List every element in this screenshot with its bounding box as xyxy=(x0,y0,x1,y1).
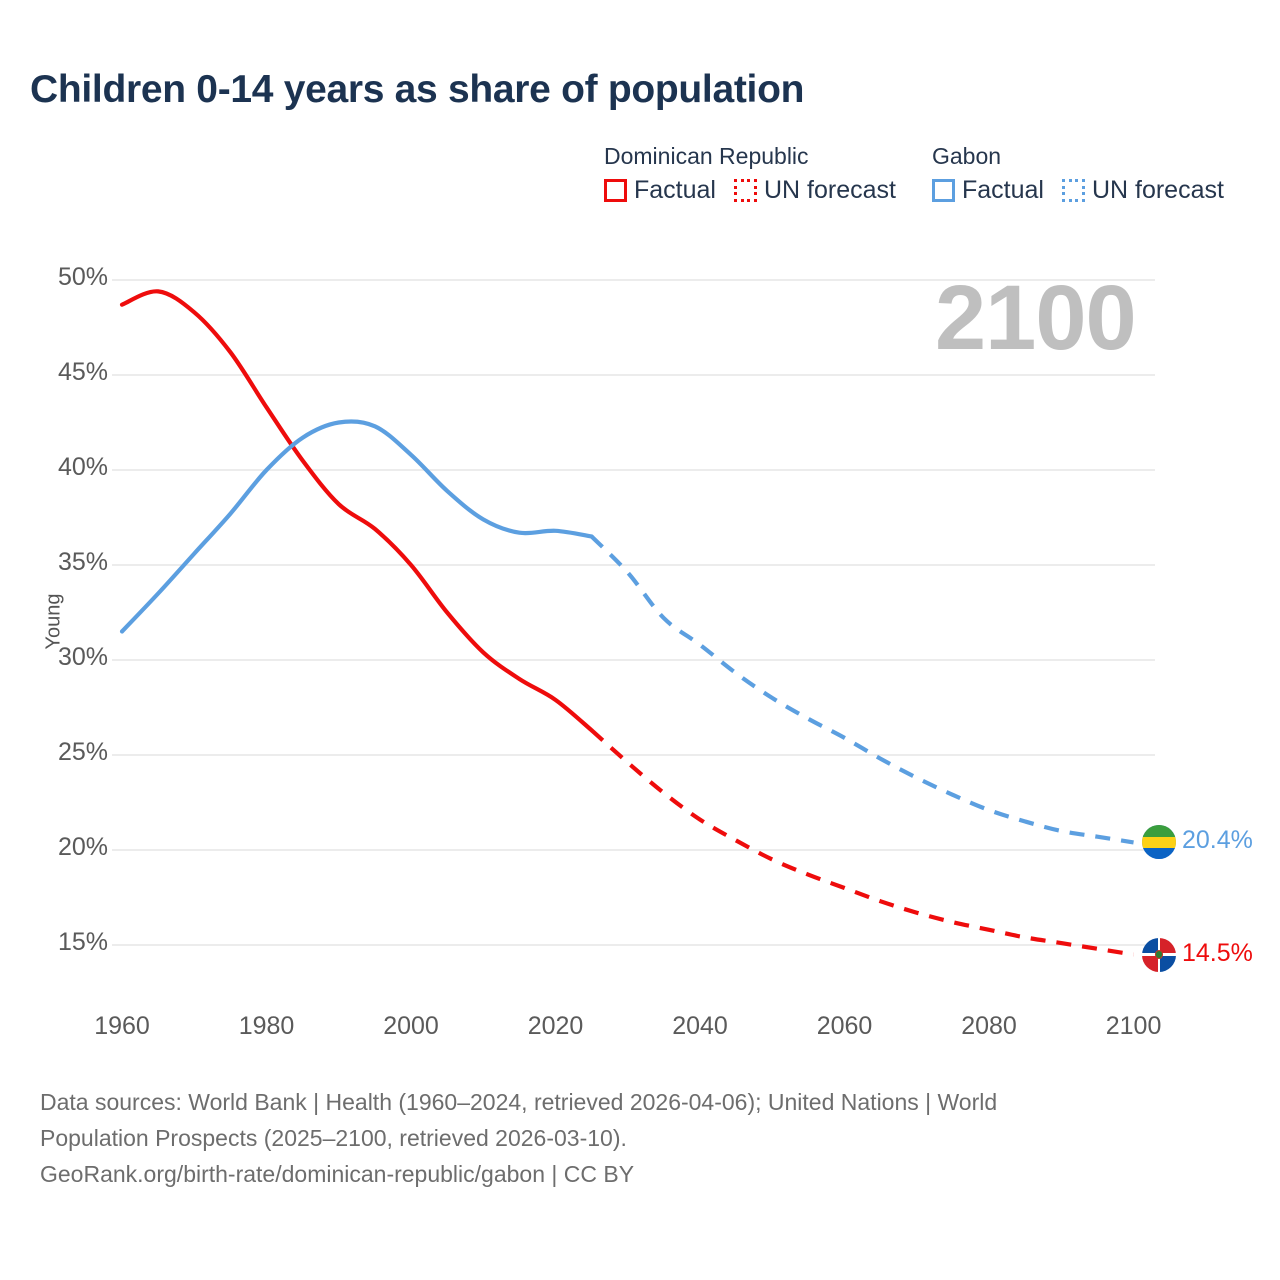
legend-group-title: Dominican Republic xyxy=(604,143,809,169)
x-tick-label: 1980 xyxy=(207,1012,327,1041)
legend-item-label: UN forecast xyxy=(764,177,896,203)
y-tick-label: 20% xyxy=(0,833,108,862)
endpoint-value-label: 14.5% xyxy=(1182,939,1253,968)
legend-swatch-solid-icon xyxy=(604,179,627,202)
y-tick-label: 50% xyxy=(0,263,108,292)
x-tick-label: 1960 xyxy=(62,1012,182,1041)
footer-line-1: Data sources: World Bank | Health (1960–… xyxy=(40,1084,1240,1120)
gabon-flag-icon xyxy=(1142,825,1176,859)
legend-group-gabon: Gabon Factual UN forecast xyxy=(932,143,1224,203)
watermark-year: 2100 xyxy=(935,272,1136,364)
x-tick-label: 2000 xyxy=(351,1012,471,1041)
x-tick-label: 2060 xyxy=(785,1012,905,1041)
legend-item-gabon-forecast[interactable]: UN forecast xyxy=(1062,177,1224,203)
legend-swatch-dotted-icon xyxy=(1062,179,1085,202)
legend-swatch-solid-icon xyxy=(932,179,955,202)
series-line-forecast-gabon xyxy=(592,537,1134,843)
chart-legend: Dominican Republic Factual UN forecast G… xyxy=(604,143,1224,203)
legend-group-title: Gabon xyxy=(932,143,1001,169)
y-tick-label: 25% xyxy=(0,738,108,767)
legend-item-gabon-factual[interactable]: Factual xyxy=(932,177,1044,203)
endpoint-value-label: 20.4% xyxy=(1182,826,1253,855)
x-tick-label: 2020 xyxy=(496,1012,616,1041)
series-line-forecast-dominican-republic xyxy=(592,730,1134,954)
series-line-factual-dominican-republic xyxy=(122,291,592,730)
x-tick-label: 2100 xyxy=(1074,1012,1194,1041)
dominican-republic-flag-icon xyxy=(1142,938,1176,972)
series-line-factual-gabon xyxy=(122,421,592,631)
y-tick-label: 45% xyxy=(0,358,108,387)
y-tick-label: 15% xyxy=(0,928,108,957)
legend-item-label: Factual xyxy=(962,177,1044,203)
legend-swatch-dotted-icon xyxy=(734,179,757,202)
legend-item-dr-forecast[interactable]: UN forecast xyxy=(734,177,896,203)
x-tick-label: 2040 xyxy=(640,1012,760,1041)
footer-sources: Data sources: World Bank | Health (1960–… xyxy=(40,1084,1240,1192)
y-tick-label: 40% xyxy=(0,453,108,482)
chart-page: Children 0-14 years as share of populati… xyxy=(0,0,1280,1280)
footer-line-3: GeoRank.org/birth-rate/dominican-republi… xyxy=(40,1156,1240,1192)
legend-group-dominican-republic: Dominican Republic Factual UN forecast xyxy=(604,143,896,203)
legend-item-label: UN forecast xyxy=(1092,177,1224,203)
legend-item-label: Factual xyxy=(634,177,716,203)
x-tick-label: 2080 xyxy=(929,1012,1049,1041)
y-tick-label: 30% xyxy=(0,643,108,672)
legend-item-dr-factual[interactable]: Factual xyxy=(604,177,716,203)
footer-line-2: Population Prospects (2025–2100, retriev… xyxy=(40,1120,1240,1156)
gridlines xyxy=(112,280,1155,945)
page-title: Children 0-14 years as share of populati… xyxy=(30,68,804,112)
series-lines xyxy=(122,291,1134,954)
y-tick-label: 35% xyxy=(0,548,108,577)
